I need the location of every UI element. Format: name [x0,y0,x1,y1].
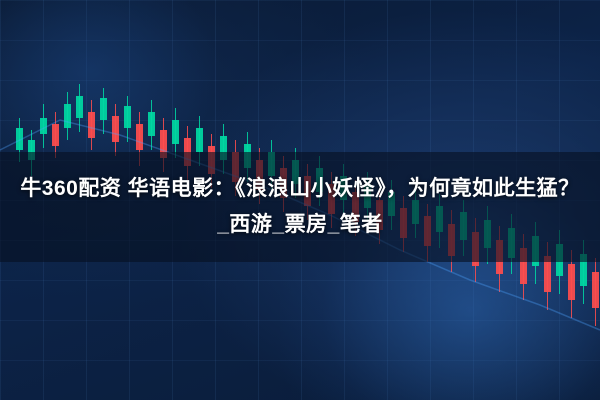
candle-body [64,104,71,128]
candle-body [136,124,143,150]
candle-body [124,106,131,128]
candle-body [100,98,107,120]
headline-container: 牛360配资 华语电影：《浪浪山小妖怪》，为何竟如此生猛？_西游_票房_笔者 [0,152,600,262]
candle-body [16,128,23,150]
candle-body [172,120,179,144]
candle-body [112,116,119,142]
candle-body [76,96,83,118]
page-title: 牛360配资 华语电影：《浪浪山小妖怪》，为何竟如此生猛？_西游_票房_笔者 [20,171,580,243]
candle-body [568,264,575,300]
image-canvas: 牛360配资 华语电影：《浪浪山小妖怪》，为何竟如此生猛？_西游_票房_笔者 [0,0,600,400]
candle-body [52,124,59,146]
candle-body [196,128,203,152]
candle-body [40,118,47,134]
candle-body [88,112,95,138]
candle-body [592,272,599,308]
candle-body [148,112,155,136]
